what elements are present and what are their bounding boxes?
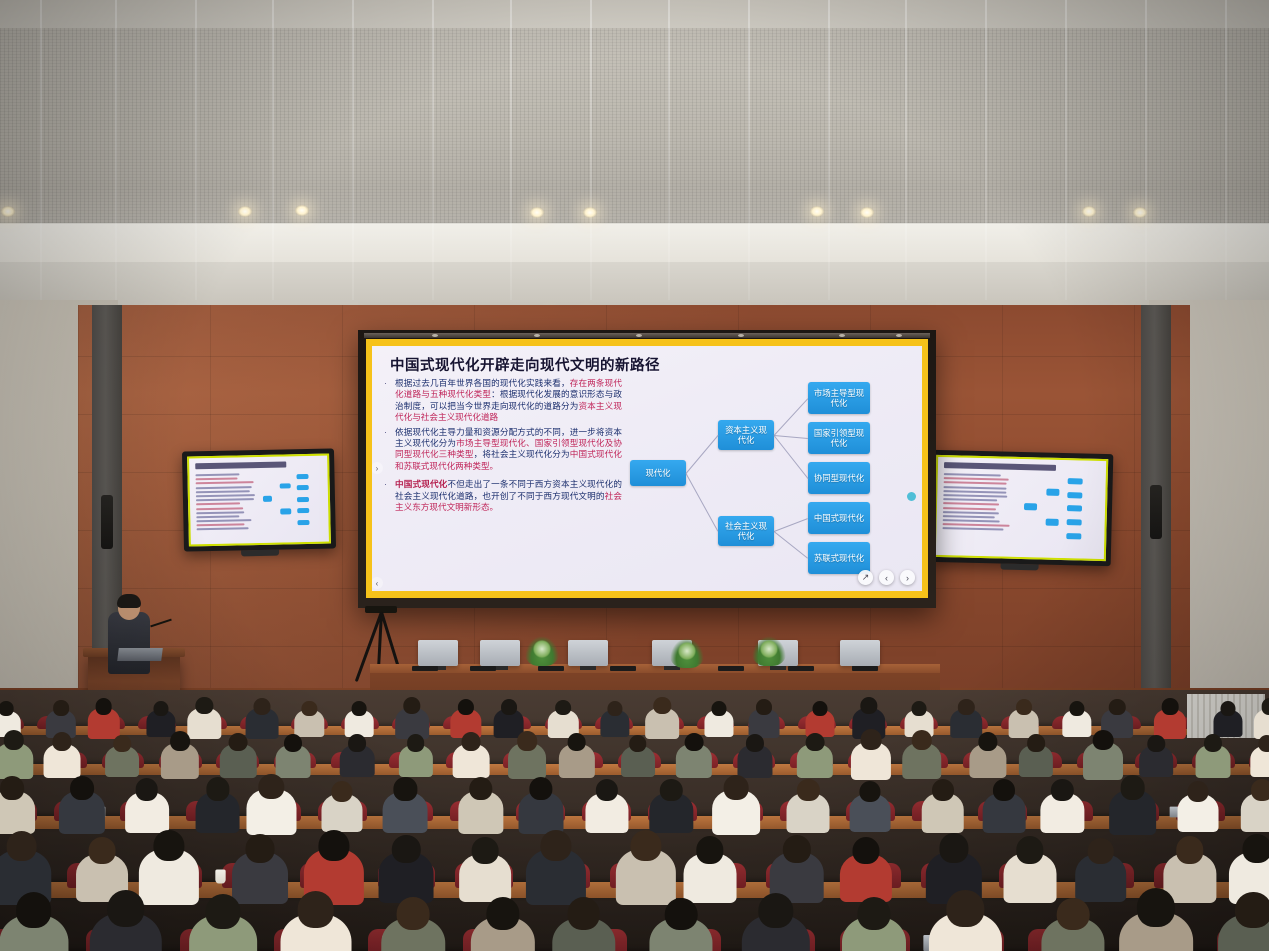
audience-member-head <box>0 701 14 716</box>
audience-member-head <box>1220 701 1235 716</box>
diagram-branch-node: 社会主义现代化 <box>718 516 774 546</box>
mini-slide-text <box>942 472 1019 550</box>
ceiling-mesh-panel <box>0 28 1269 223</box>
bullet-text: 中国式现代化不但走出了一条不同于西方资本主义现代化的社会主义现代化道路，也开创了… <box>395 479 622 513</box>
audience-member-head <box>170 731 190 751</box>
mini-diagram-node <box>1045 519 1059 526</box>
ceiling-downlight <box>1082 206 1096 217</box>
audience-member-head <box>712 701 727 716</box>
audience-member <box>1041 898 1104 951</box>
audience-member <box>1109 775 1157 844</box>
audience-member-head <box>631 830 662 861</box>
presenter-hair <box>117 594 141 608</box>
audience-member-head <box>297 891 334 928</box>
ceiling-seam <box>828 0 830 300</box>
mini-diagram-node <box>297 520 309 525</box>
ceiling-downlight <box>1133 207 1147 218</box>
bullet-segment: 中国式现代化 <box>395 479 447 489</box>
mini-diagram-node <box>280 508 291 514</box>
prev-icon[interactable]: ‹ <box>879 570 894 585</box>
mini-text-line <box>943 519 1000 522</box>
audience-member-head <box>394 777 417 800</box>
audience-member-head <box>53 732 72 751</box>
audience-member-head <box>555 700 571 716</box>
diagram-connector <box>774 531 809 559</box>
audience-member-head <box>912 701 927 716</box>
audience-member <box>471 897 535 951</box>
audience-member-head <box>517 731 537 751</box>
mini-text-line <box>196 478 238 481</box>
audience-member <box>787 779 830 841</box>
audience-member-head <box>947 890 984 927</box>
diagram-leaf-node: 市场主导型现代化 <box>808 382 870 414</box>
mirrored-slide <box>936 457 1106 559</box>
audience-member-head <box>940 833 969 862</box>
mini-slide-diagram <box>261 471 323 536</box>
audience-member-head <box>860 781 881 802</box>
audience-seating <box>0 690 1269 951</box>
diagram-leaf-node: 协同型现代化 <box>808 462 870 494</box>
audience-member <box>381 897 444 951</box>
screen-top-rail <box>364 333 930 338</box>
left-monitor-screen <box>187 454 331 547</box>
audience-member-head <box>1016 836 1043 863</box>
audience-member-head <box>107 890 144 927</box>
audience-member <box>1250 735 1269 783</box>
audience-member-head <box>932 779 954 801</box>
ceiling-seam <box>905 0 907 300</box>
audience-member <box>929 890 1001 951</box>
audience-member-head <box>665 898 698 931</box>
audience-member-head <box>136 778 159 801</box>
audience-member-head <box>392 835 420 863</box>
audience-member-head <box>472 837 499 864</box>
mini-text-line <box>197 528 249 531</box>
audience-member-head <box>53 700 69 716</box>
audience-member <box>1241 779 1269 840</box>
mini-diagram-node <box>279 483 290 489</box>
delegate-nameplate <box>610 666 636 671</box>
mini-text-line <box>943 486 1006 490</box>
audience-member-head <box>113 735 131 753</box>
mini-diagram-node <box>263 496 273 502</box>
monitor-stand <box>241 550 279 557</box>
podium-laptop <box>117 648 163 661</box>
audience-member-head <box>206 777 229 800</box>
audience-member-head <box>302 701 317 716</box>
audience-member <box>842 897 906 951</box>
delegate-monitor <box>418 640 458 666</box>
delegate-monitor <box>480 640 520 666</box>
audience-member-head <box>352 701 367 716</box>
mini-diagram-node <box>1067 519 1082 525</box>
audience-member-head <box>397 897 430 930</box>
ceiling-downlight <box>583 207 597 218</box>
mini-text-line <box>942 528 1003 531</box>
mini-text-line <box>943 494 1007 498</box>
audience-member-head <box>1120 775 1145 800</box>
audience-member-head <box>529 777 552 800</box>
mini-diagram-node <box>296 474 308 479</box>
mini-diagram-node <box>1046 488 1060 495</box>
audience-member-head <box>1258 735 1269 752</box>
audience-member-head <box>6 831 37 862</box>
audience-member <box>105 735 139 784</box>
slide-controls[interactable]: ↗‹› <box>858 570 915 585</box>
mini-text-line <box>196 481 254 484</box>
diagram-connector <box>686 435 719 474</box>
bullet-marker-icon: · <box>384 479 390 513</box>
audience-member <box>280 891 351 951</box>
audience-member-head <box>596 779 618 801</box>
audience-member-head <box>284 734 302 752</box>
audience-member <box>458 777 503 843</box>
bullet-segment: ，将社会主义现代化分为 <box>474 449 570 459</box>
audience-member <box>797 733 833 786</box>
audience-member-head <box>1251 779 1269 801</box>
right-monitor-screen <box>934 455 1108 561</box>
slide-status-dot <box>907 492 916 501</box>
audience-member-head <box>993 779 1015 801</box>
mini-slide-text <box>195 472 257 537</box>
audience-member-head <box>653 697 670 714</box>
slide-bullet: ·中国式现代化不但走出了一条不同于西方资本主义现代化的社会主义现代化道路，也开创… <box>384 479 622 513</box>
audience-member-head <box>979 732 998 751</box>
audience-member <box>0 892 68 951</box>
mini-text-line <box>196 486 252 489</box>
audience-member-head <box>70 776 94 800</box>
mini-text-line <box>197 524 245 527</box>
main-projection-screen[interactable]: 中国式现代化开辟走向现代文明的新路径 ·根据过去几百年世界各国的现代化实践来看，… <box>358 330 936 608</box>
mini-text-line <box>943 515 995 518</box>
table-plant <box>670 638 704 668</box>
audience-member-head <box>724 775 749 800</box>
modernization-tree-diagram: 现代化资本主义现代化市场主导型现代化国家引领型现代化协同型现代化社会主义现代化中… <box>630 376 916 585</box>
bullet-marker-icon: · <box>384 378 390 424</box>
audience-member-head <box>783 835 811 863</box>
audience-member-head <box>95 698 112 715</box>
ceiling-seam <box>1145 0 1147 300</box>
audience-member-head <box>1057 898 1090 931</box>
audience-member <box>340 734 375 784</box>
slide-bullet: ·根据过去几百年世界各国的现代化实践来看，存在两条现代化道路与五种现代化类型：根… <box>384 378 622 424</box>
ceiling-seam <box>748 0 750 300</box>
audience-member-head <box>245 834 274 863</box>
audience-member-head <box>331 781 352 802</box>
diagram-connector <box>774 435 809 479</box>
delegate-nameplate <box>788 666 814 671</box>
audience-member-head <box>229 733 248 752</box>
delegate-nameplate <box>852 666 878 671</box>
audience-member <box>189 894 257 951</box>
audience-member-head <box>685 733 704 752</box>
ceiling-downlight <box>810 206 824 217</box>
audience-member-head <box>857 897 890 930</box>
right-pilaster <box>1141 305 1171 705</box>
audience-member-head <box>1051 779 1073 801</box>
audience-member-head <box>1204 734 1222 752</box>
ceiling-downlight <box>238 206 252 217</box>
table-plant <box>752 636 786 666</box>
slide-content: 中国式现代化开辟走向现代文明的新路径 ·根据过去几百年世界各国的现代化实践来看，… <box>372 346 922 591</box>
ceiling-seam <box>272 0 274 300</box>
mini-text-line <box>943 511 999 514</box>
delegate-nameplate <box>470 666 496 671</box>
mini-diagram-node <box>296 485 308 490</box>
audience-member <box>1019 734 1053 784</box>
audience-member-head <box>318 830 349 861</box>
audience-member-head <box>469 777 492 800</box>
audience-member <box>90 890 162 951</box>
audience-member-head <box>1176 836 1204 864</box>
audience-member <box>712 775 760 844</box>
audience-member <box>983 779 1026 841</box>
bullet-text: 依据现代化主导力量和资源分配方式的不同，进一步将资本主义现代化分为市场主导型现代… <box>395 427 622 473</box>
audience-member-head <box>1148 735 1165 752</box>
diagram-leaf-node: 国家引领型现代化 <box>808 422 870 454</box>
audience-member-head <box>660 779 682 801</box>
mini-diagram-node <box>1067 492 1082 498</box>
audience-member-head <box>196 697 213 714</box>
audience-member <box>195 777 240 842</box>
audience-member-head <box>16 892 52 928</box>
presenter-body <box>108 612 150 674</box>
presentation-slide-frame: 中国式现代化开辟走向现代文明的新路径 ·根据过去几百年世界各国的现代化实践来看，… <box>366 339 928 598</box>
bullet-text: 根据过去几百年世界各国的现代化实践来看，存在两条现代化道路与五种现代化类型：根据… <box>395 378 622 424</box>
slide-bullet: ·依据现代化主导力量和资源分配方式的不同，进一步将资本主义现代化分为市场主导型现… <box>384 427 622 473</box>
mini-text-line <box>196 494 255 497</box>
audience-member-head <box>501 699 517 715</box>
ceiling-seam <box>40 0 42 300</box>
audience-member-head <box>1261 698 1269 715</box>
audience-member-head <box>4 730 24 750</box>
ceiling-seam <box>1225 0 1227 300</box>
mini-text-line <box>943 523 1010 527</box>
audience-member <box>1041 779 1084 842</box>
next-icon[interactable]: › <box>900 570 915 585</box>
audience-member-head <box>541 830 572 861</box>
mini-diagram-node <box>297 508 309 513</box>
audience-member-head <box>567 733 586 752</box>
audience-member-head <box>1016 699 1032 715</box>
audience-member-head <box>860 729 881 750</box>
ceiling-downlight <box>530 207 544 218</box>
diagram-leaf-node: 中国式现代化 <box>808 502 870 534</box>
audience-member <box>621 735 655 784</box>
audience-member-head <box>567 897 600 930</box>
mini-text-line <box>196 503 240 506</box>
delegate-nameplate <box>538 666 564 671</box>
audience-member-head <box>153 701 168 716</box>
audience-member-head <box>629 735 647 753</box>
audience-member-head <box>462 732 481 751</box>
audience-member-head <box>259 774 284 799</box>
share-icon[interactable]: ↗ <box>858 570 873 585</box>
audience-member <box>1219 892 1269 951</box>
mini-slide-title <box>195 461 286 469</box>
audience-member-head <box>154 830 185 861</box>
mini-diagram-node <box>1068 478 1083 484</box>
bullet-marker-icon: · <box>384 427 390 473</box>
audience-member-head <box>253 698 270 715</box>
edge-prev-icon[interactable]: ‹ <box>372 577 383 589</box>
audience-member-head <box>89 837 116 864</box>
mini-text-line <box>196 511 244 514</box>
ceiling-seam <box>432 0 434 300</box>
right-wall-monitor[interactable] <box>929 450 1114 566</box>
mini-diagram-node <box>1067 506 1082 512</box>
audience-member-head <box>0 776 24 800</box>
audience-member-head <box>860 697 877 714</box>
audience-member <box>1119 888 1193 951</box>
audience-member-head <box>958 699 974 715</box>
delegate-nameplate <box>718 666 744 671</box>
bullet-segment: 根据过去几百年世界各国的现代化实践来看， <box>395 378 570 388</box>
delegate-monitor <box>568 640 608 666</box>
ceiling-seam <box>590 0 592 300</box>
mini-diagram-node <box>1024 503 1036 510</box>
slide-bullet-list: ·根据过去几百年世界各国的现代化实践来看，存在两条现代化道路与五种现代化类型：根… <box>384 378 622 516</box>
ceiling-cove-light <box>0 224 1269 262</box>
table-plant <box>525 636 559 666</box>
delegate-monitor <box>840 640 880 666</box>
audience-member-head <box>912 730 932 750</box>
audience-member <box>1195 734 1230 785</box>
audience-member <box>1177 781 1218 840</box>
audience-member-head <box>1027 734 1045 752</box>
audience-member <box>922 779 965 841</box>
mini-text-line <box>943 498 997 501</box>
audience-member <box>851 729 891 787</box>
delegate-nameplate <box>412 666 438 671</box>
slide-title: 中国式现代化开辟走向现代文明的新路径 <box>390 354 660 375</box>
audience-member <box>676 733 712 786</box>
audience-member-head <box>1137 888 1175 926</box>
audience-member-head <box>1235 892 1269 928</box>
ceiling-seam <box>195 0 197 300</box>
audience-member <box>552 897 615 951</box>
ceiling-seam <box>985 0 987 300</box>
audience-member-head <box>348 734 366 752</box>
mini-text-line <box>196 498 254 501</box>
audience-member <box>970 732 1007 786</box>
auditorium-scene: 中国式现代化开辟走向现代文明的新路径 ·根据过去几百年世界各国的现代化实践来看，… <box>0 0 1269 951</box>
audience-member-head <box>805 733 824 752</box>
mini-text-line <box>944 477 1009 481</box>
audience-member-head <box>1093 730 1114 751</box>
ceiling-seam <box>352 0 354 300</box>
mini-text-line <box>196 507 243 510</box>
mini-text-line <box>943 507 996 510</box>
mini-text-line <box>196 519 251 522</box>
audience-member-head <box>1187 781 1208 802</box>
audience-member-head <box>458 699 474 715</box>
audience-member <box>742 893 810 951</box>
audience-member-head <box>1243 834 1269 863</box>
monitor-stand <box>1000 564 1038 571</box>
audience-member-head <box>756 699 772 715</box>
mini-diagram-node <box>297 497 309 502</box>
audience-member <box>383 777 428 842</box>
ceiling <box>0 0 1269 330</box>
ceiling-seam <box>1065 0 1067 300</box>
audience-member-head <box>696 836 723 863</box>
ceiling-seam <box>668 0 670 300</box>
edge-next-icon[interactable]: › <box>372 462 383 474</box>
ceiling-downlight <box>295 205 309 216</box>
audience-member-head <box>486 897 519 930</box>
audience-member-head <box>1069 701 1084 716</box>
mini-text-line <box>196 515 239 518</box>
audience-member-head <box>1162 698 1179 715</box>
ceiling-seam <box>510 0 512 300</box>
diagram-root-node: 现代化 <box>630 460 686 486</box>
mini-diagram-node <box>1066 533 1081 539</box>
wall-speaker-icon <box>101 495 113 549</box>
diagram-connector <box>686 473 719 531</box>
diagram-branch-node: 资本主义现代化 <box>718 420 774 450</box>
mirrored-slide <box>189 456 329 545</box>
diagram-connector <box>774 518 808 532</box>
audience-member <box>650 898 713 951</box>
audience-member-head <box>1087 838 1114 865</box>
audience-member-head <box>403 697 420 714</box>
mini-slide-title <box>944 462 1056 471</box>
mini-slide-diagram <box>1022 474 1100 552</box>
ceiling-downlight <box>860 207 874 218</box>
audience-member <box>850 781 891 840</box>
diagram-connector <box>774 435 808 439</box>
mini-text-line <box>943 490 1006 494</box>
mini-text-line <box>195 473 240 476</box>
audience-member-head <box>852 837 879 864</box>
left-wall-monitor[interactable] <box>182 448 336 551</box>
audience-member-head <box>407 734 425 752</box>
audience-member <box>559 733 595 786</box>
audience-member-head <box>813 701 828 716</box>
mini-text-line <box>196 490 250 493</box>
audience-member-head <box>205 894 240 929</box>
diagram-connector <box>774 398 809 436</box>
ceiling-seam <box>115 0 117 300</box>
mini-text-line <box>944 473 1001 476</box>
audience-member-head <box>607 701 622 716</box>
audience-member <box>59 776 105 843</box>
mini-text-line <box>943 502 999 505</box>
ceiling-downlight <box>1 206 15 217</box>
audience-member-head <box>746 734 764 752</box>
audience-member-head <box>758 893 793 928</box>
mini-text-line <box>944 481 1007 485</box>
paper-cup <box>216 869 226 883</box>
wall-speaker-icon <box>1150 485 1162 539</box>
audience-member-head <box>797 779 819 801</box>
